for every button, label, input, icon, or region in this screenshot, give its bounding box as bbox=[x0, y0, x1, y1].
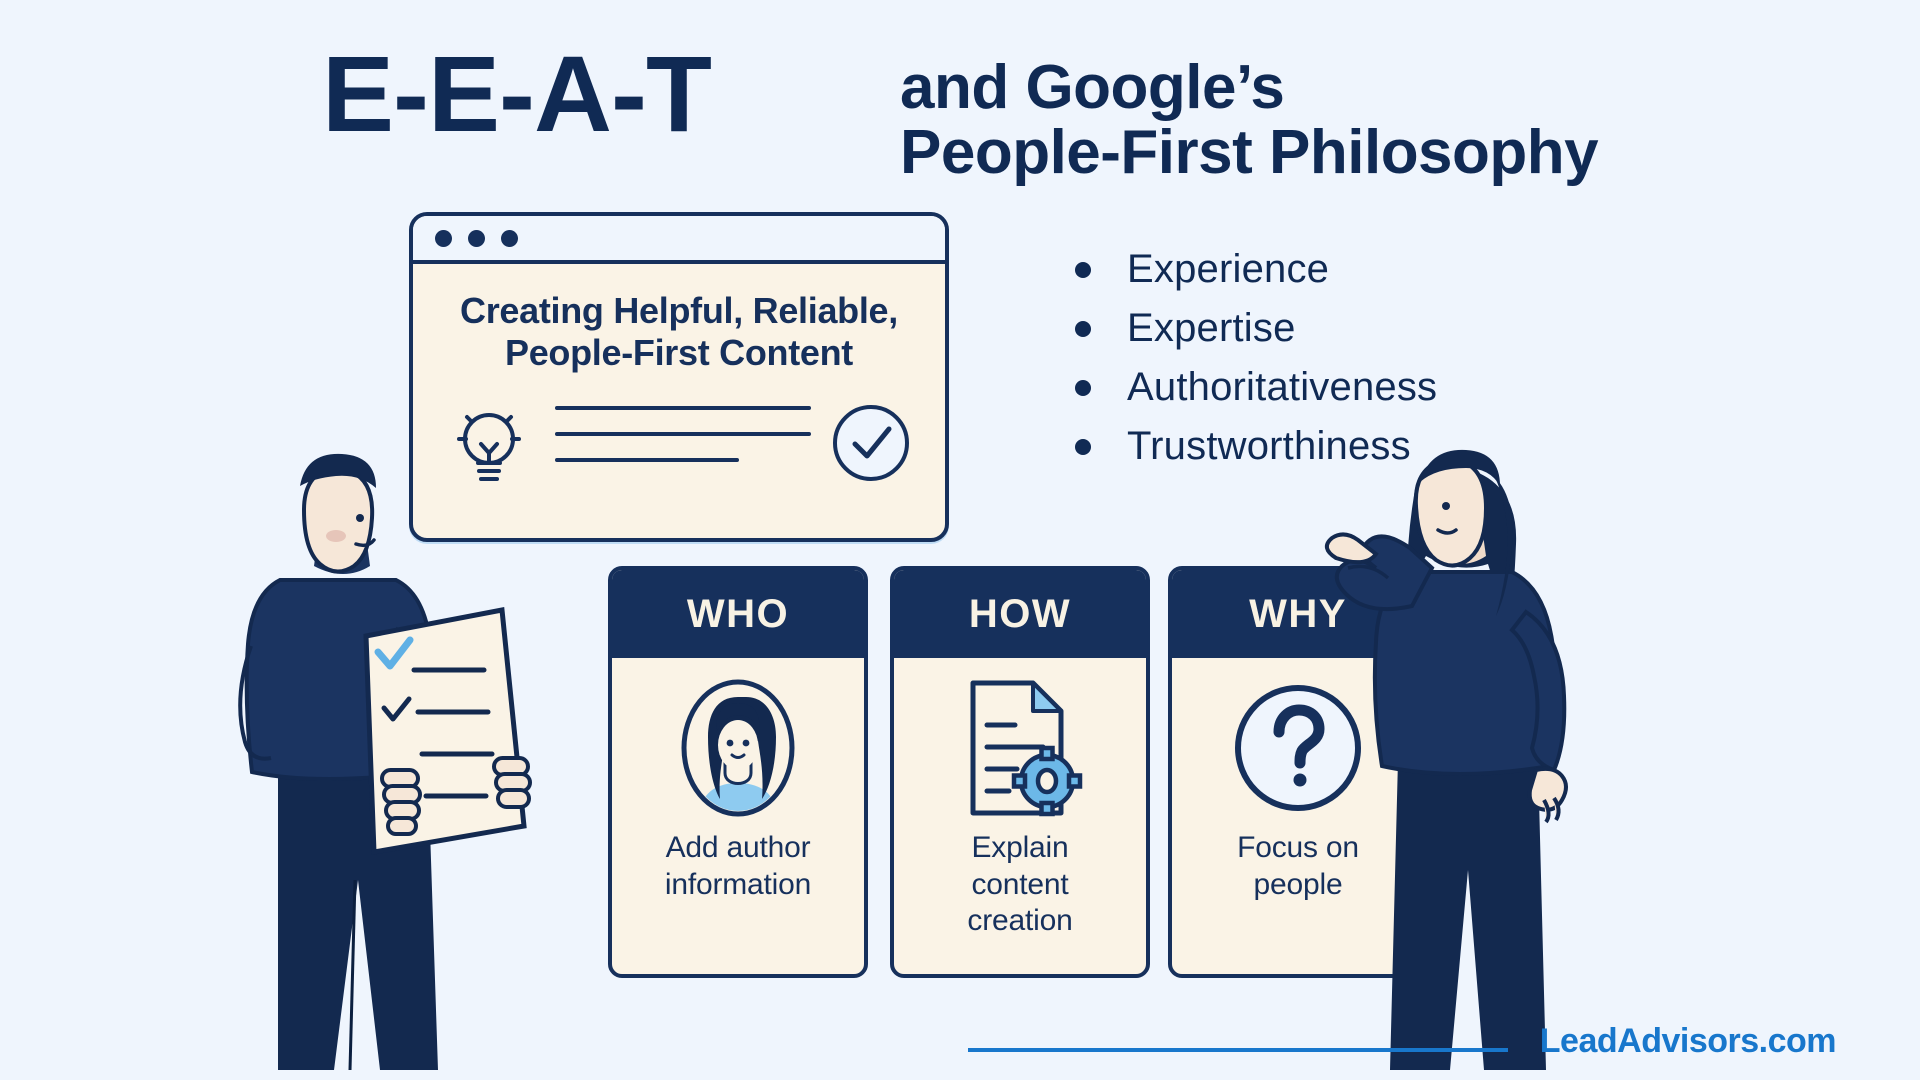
card-who-caption-line-2: information bbox=[665, 868, 811, 901]
leadadvisors-logo[interactable]: LeadAdvisors.com bbox=[1540, 1022, 1836, 1061]
text-line bbox=[555, 458, 739, 462]
window-dot-icon bbox=[468, 230, 485, 247]
browser-text-lines bbox=[555, 406, 811, 484]
card-how-caption: Explain content creation bbox=[894, 826, 1146, 974]
bullet-label: Experience bbox=[1127, 247, 1329, 292]
man-holding-checklist-illustration bbox=[218, 440, 578, 1080]
bullet-dot-icon bbox=[1075, 321, 1091, 337]
card-how-caption-line-2: content bbox=[971, 868, 1068, 901]
browser-headline-line-1: Creating Helpful, Reliable, bbox=[460, 290, 898, 331]
card-how[interactable]: HOW bbox=[890, 566, 1150, 978]
card-how-title: HOW bbox=[969, 592, 1071, 637]
list-item: Authoritativeness bbox=[1075, 358, 1595, 417]
page-subtitle: and Google’s People-First Philosophy bbox=[900, 55, 1640, 185]
document-gear-icon bbox=[894, 658, 1146, 826]
page-subtitle-line-1: and Google’s bbox=[900, 53, 1284, 122]
card-how-caption-line-3: creation bbox=[967, 904, 1072, 937]
card-who-caption: Add author information bbox=[612, 826, 864, 974]
bullet-label: Authoritativeness bbox=[1127, 365, 1437, 410]
card-who-title: WHO bbox=[687, 592, 789, 637]
author-avatar-icon bbox=[612, 658, 864, 826]
bullet-dot-icon bbox=[1075, 439, 1091, 455]
text-line bbox=[555, 406, 811, 410]
footer-divider bbox=[968, 1048, 1508, 1052]
page-title-acronym: E-E-A-T bbox=[322, 40, 711, 148]
card-how-header: HOW bbox=[894, 570, 1146, 658]
card-who[interactable]: WHO Add author information bbox=[608, 566, 868, 978]
browser-headline: Creating Helpful, Reliable, People-First… bbox=[439, 290, 919, 375]
card-how-caption-line-1: Explain bbox=[972, 831, 1069, 864]
card-who-caption-line-1: Add author bbox=[666, 831, 811, 864]
card-who-header: WHO bbox=[612, 570, 864, 658]
browser-title-bar bbox=[413, 216, 945, 264]
check-circle-icon bbox=[829, 401, 913, 490]
infographic-canvas: E-E-A-T and Google’s People-First Philos… bbox=[0, 0, 1920, 1080]
text-line bbox=[555, 432, 811, 436]
list-item: Expertise bbox=[1075, 299, 1595, 358]
page-subtitle-line-2: People-First Philosophy bbox=[900, 120, 1640, 185]
window-dot-icon bbox=[435, 230, 452, 247]
woman-presenting-illustration bbox=[1320, 430, 1650, 1080]
window-dot-icon bbox=[501, 230, 518, 247]
bullet-dot-icon bbox=[1075, 380, 1091, 396]
browser-headline-line-2: People-First Content bbox=[505, 332, 853, 373]
bullet-label: Expertise bbox=[1127, 306, 1296, 351]
list-item: Experience bbox=[1075, 240, 1595, 299]
bullet-dot-icon bbox=[1075, 262, 1091, 278]
